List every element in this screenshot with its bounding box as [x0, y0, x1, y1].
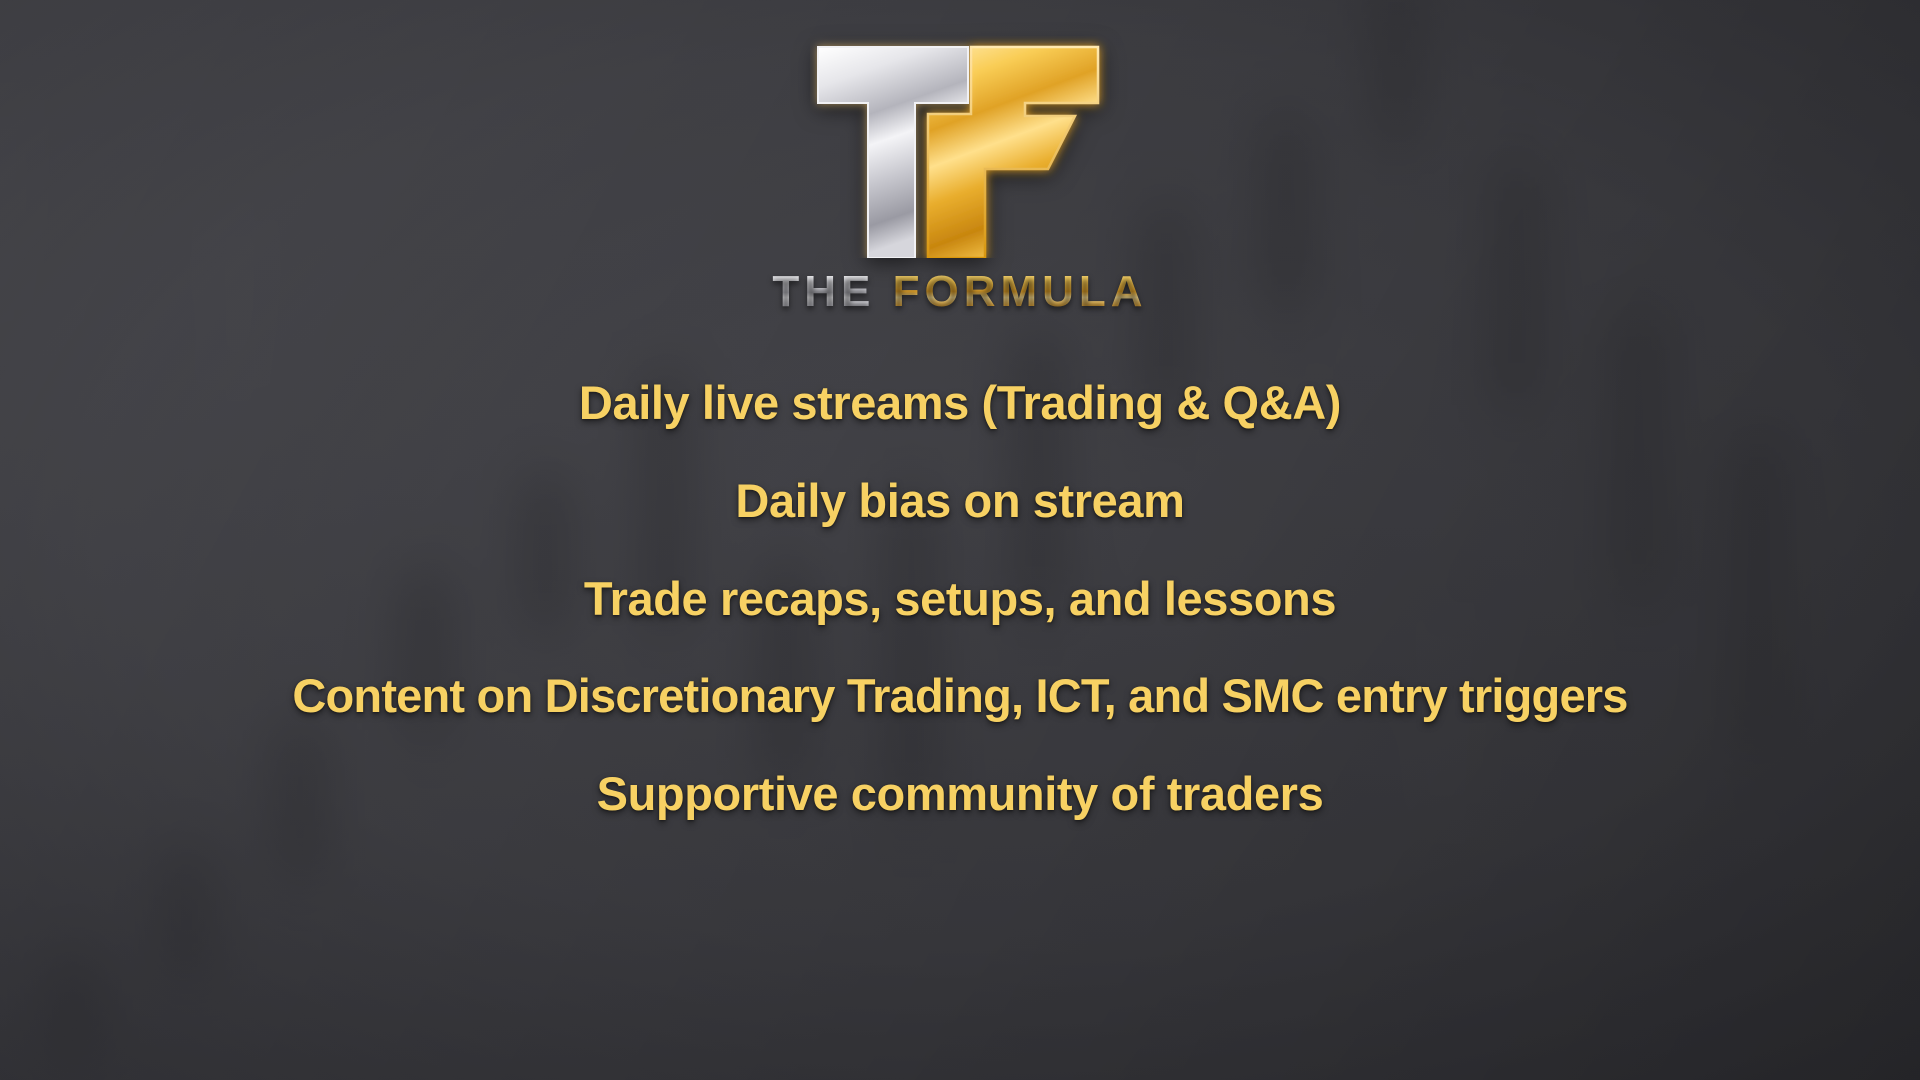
benefit-item-3: Trade recaps, setups, and lessons	[584, 574, 1336, 624]
benefit-item-4: Content on Discretionary Trading, ICT, a…	[292, 671, 1627, 721]
slide-content: THE FORMULA Daily live streams (Trading …	[0, 0, 1920, 1080]
tf-monogram-icon	[810, 36, 1110, 258]
benefit-item-2: Daily bias on stream	[735, 476, 1184, 526]
promo-slide: THE FORMULA Daily live streams (Trading …	[0, 0, 1920, 1080]
brand-wordmark: THE FORMULA	[772, 270, 1147, 314]
benefit-item-5: Supportive community of traders	[597, 769, 1324, 819]
wordmark-formula: FORMULA	[893, 267, 1148, 316]
wordmark-the: THE	[772, 267, 875, 316]
benefits-list: Daily live streams (Trading & Q&A) Daily…	[0, 378, 1920, 819]
benefit-item-1: Daily live streams (Trading & Q&A)	[579, 378, 1341, 428]
